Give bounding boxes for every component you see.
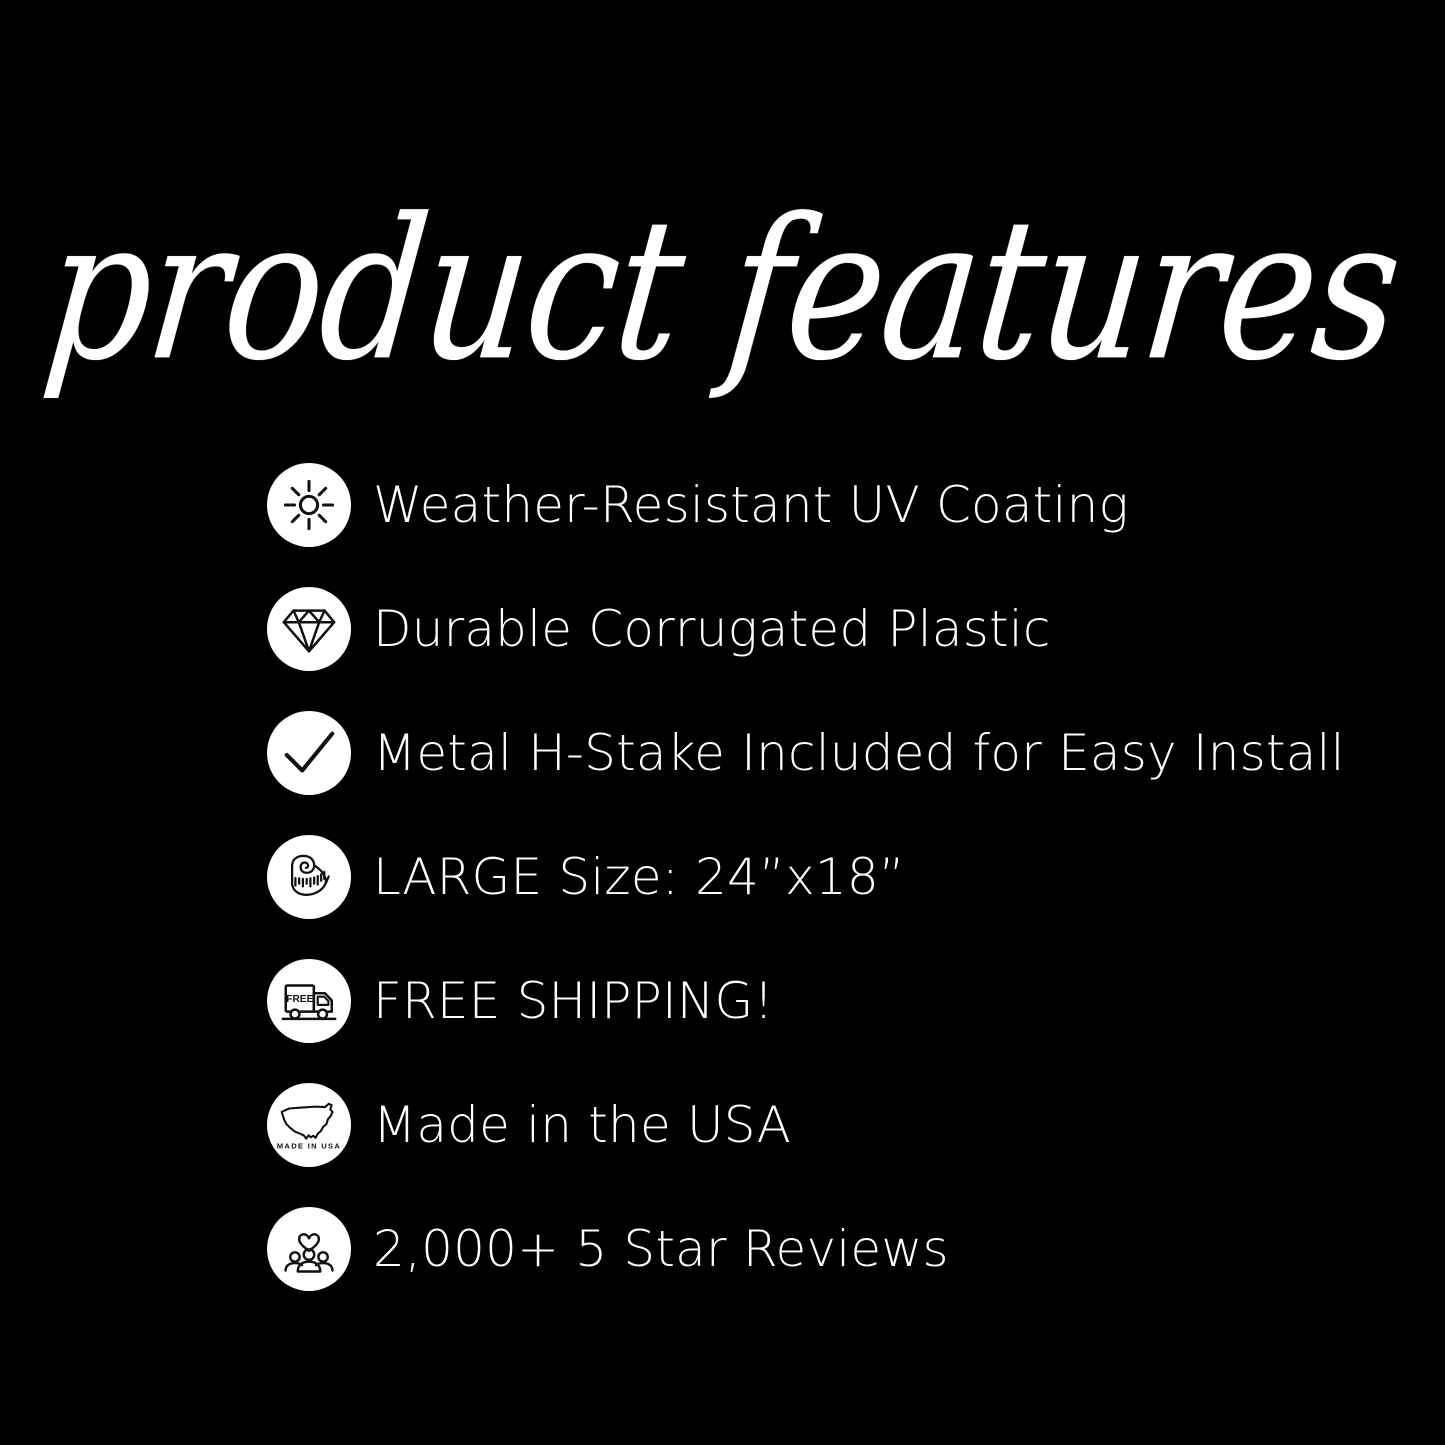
feature-row: Weather-Resistant UV Coating bbox=[267, 455, 1387, 555]
people-heart-icon bbox=[267, 1207, 351, 1291]
checkmark-icon bbox=[267, 711, 351, 795]
measuring-tape-icon bbox=[267, 835, 351, 919]
feature-row: Durable Corrugated Plastic bbox=[267, 579, 1387, 679]
diamond-icon bbox=[267, 587, 351, 671]
feature-label: Made in the USA bbox=[373, 1099, 791, 1152]
feature-label: FREE SHIPPING! bbox=[373, 975, 774, 1028]
usa-map-icon: MADE IN USA bbox=[267, 1083, 351, 1167]
feature-label: Weather-Resistant UV Coating bbox=[373, 479, 1129, 532]
feature-row: Metal H-Stake Included for Easy Install bbox=[267, 703, 1387, 803]
made-in-usa-label: MADE IN USA bbox=[277, 1142, 341, 1151]
feature-label: LARGE Size: 24”x18” bbox=[373, 851, 905, 904]
feature-label: Durable Corrugated Plastic bbox=[373, 603, 1051, 656]
feature-label: 2,000+ 5 Star Reviews bbox=[373, 1223, 949, 1276]
page-title-container: product features bbox=[0, 150, 1445, 430]
page-title: product features bbox=[38, 193, 1408, 388]
product-features-card: product features Weather-Resistant UV Co… bbox=[0, 0, 1445, 1445]
feature-list: Weather-Resistant UV Coating Durable Cor… bbox=[267, 455, 1387, 1299]
feature-label: Metal H-Stake Included for Easy Install bbox=[373, 727, 1345, 780]
feature-row: 2,000+ 5 Star Reviews bbox=[267, 1199, 1387, 1299]
feature-row: LARGE Size: 24”x18” bbox=[267, 827, 1387, 927]
truck-free-label: FREE bbox=[286, 994, 313, 1005]
feature-row: FREE FREE SHIPPING! bbox=[267, 951, 1387, 1051]
sun-icon bbox=[267, 463, 351, 547]
delivery-truck-icon: FREE bbox=[267, 959, 351, 1043]
feature-row: MADE IN USA Made in the USA bbox=[267, 1075, 1387, 1175]
